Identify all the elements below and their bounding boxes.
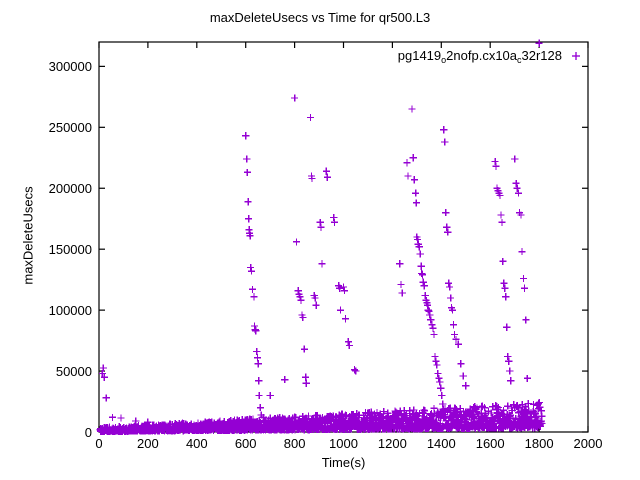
plot-frame <box>99 42 588 432</box>
chart-plot-area <box>0 0 640 480</box>
scatter-series <box>97 40 546 435</box>
chart-figure: maxDeleteUsecs vs Time for qr500.L3 pg14… <box>0 0 640 480</box>
legend-key-marker <box>572 52 580 60</box>
